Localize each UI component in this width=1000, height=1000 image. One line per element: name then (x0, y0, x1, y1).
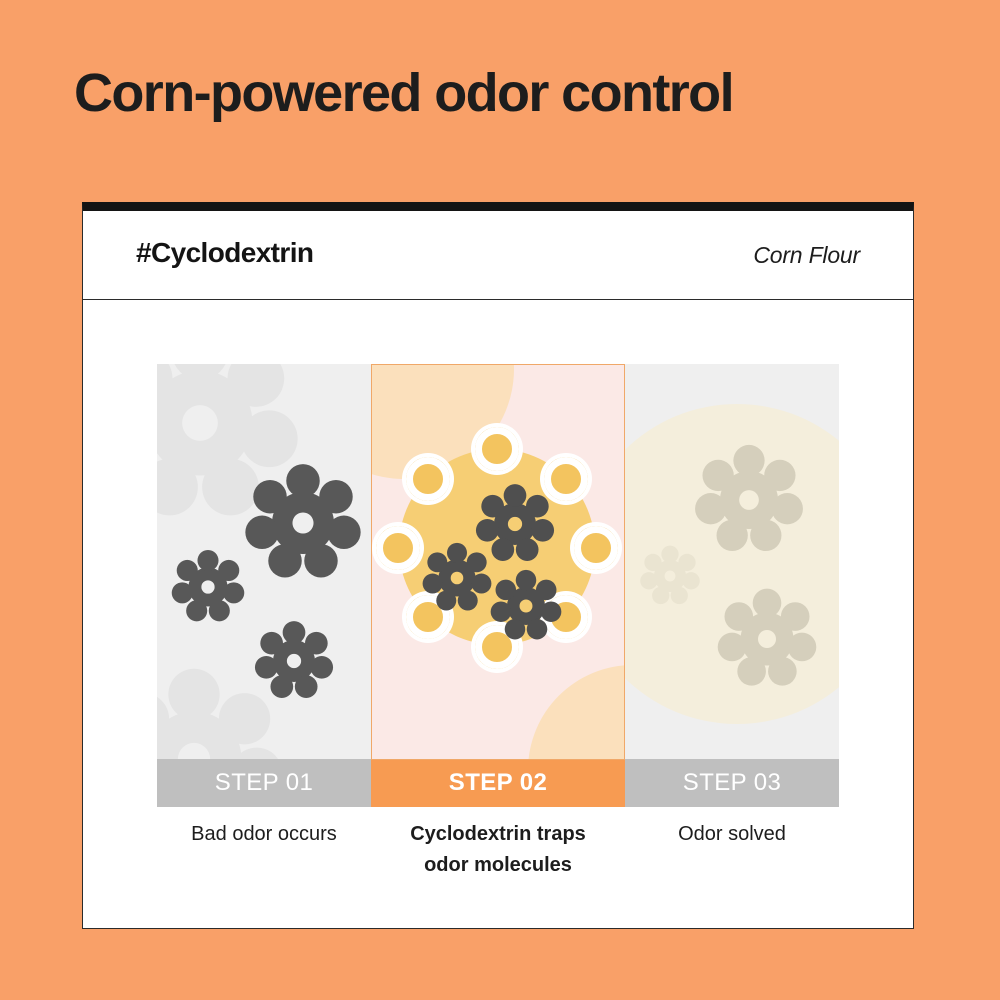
step-badge-bar: STEP 01 STEP 02 STEP 03 (157, 759, 839, 807)
ring-node-icon (406, 457, 450, 501)
card-header: #Cyclodextrin Corn Flour (83, 211, 913, 300)
step-caption-2: Cyclodextrin traps odor molecules (371, 819, 625, 881)
source-label: Corn Flour (753, 242, 860, 269)
trapped-odor-molecule-icon (488, 568, 564, 644)
step-badge-1[interactable]: STEP 01 (157, 759, 371, 807)
step-badge-3[interactable]: STEP 03 (625, 759, 839, 807)
odor-control-diagram: STEP 01 STEP 02 STEP 03 Bad odor occurs … (83, 309, 913, 937)
odor-molecule-icon (169, 548, 247, 626)
solved-molecule-icon (714, 586, 820, 692)
step-caption-3: Odor solved (625, 819, 839, 881)
decorative-blob (528, 665, 625, 760)
step-panels (157, 364, 839, 760)
step-captions: Bad odor occurs Cyclodextrin traps odor … (157, 819, 839, 881)
ring-node-icon (376, 526, 420, 570)
step-caption-2-line2: odor molecules (424, 854, 572, 876)
step-panel-3 (625, 364, 839, 760)
solved-molecule-icon (691, 442, 807, 558)
trapped-odor-molecule-icon (420, 541, 494, 615)
step-caption-1: Bad odor occurs (157, 819, 371, 881)
ring-node-icon (475, 427, 519, 471)
step-caption-2-line1: Cyclodextrin traps (410, 823, 586, 845)
infographic-card: #Cyclodextrin Corn Flour (82, 202, 914, 929)
hashtag-label: #Cyclodextrin (136, 237, 313, 269)
step-panel-1 (157, 364, 371, 760)
solved-molecule-icon (638, 544, 702, 608)
step-badge-2[interactable]: STEP 02 (371, 759, 625, 807)
step-panel-2 (371, 364, 625, 760)
odor-molecule-icon (252, 619, 336, 703)
ring-node-icon (574, 526, 618, 570)
page-title: Corn-powered odor control (74, 62, 934, 124)
odor-molecule-icon (241, 461, 365, 585)
